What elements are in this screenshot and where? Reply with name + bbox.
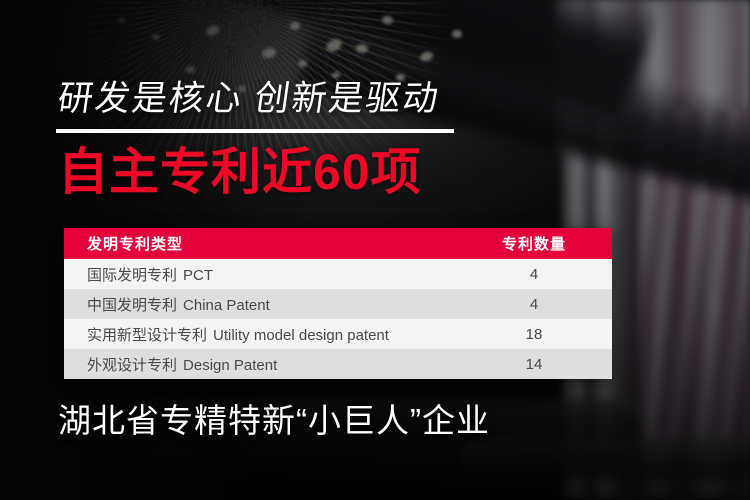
cell-patent-type: 国际发明专利PCT	[64, 264, 464, 285]
headline-primary: 研发是核心 创新是驱动	[55, 78, 443, 120]
footer-tagline: 湖北省专精特新“小巨人”企业	[58, 400, 490, 442]
patent-table: 发明专利类型 专利数量 国际发明专利PCT 4 中国发明专利China Pate…	[64, 228, 612, 379]
cell-patent-type: 实用新型设计专利Utility model design patent	[64, 324, 464, 345]
cell-patent-type-cn: 实用新型设计专利	[87, 327, 207, 344]
table-row: 中国发明专利China Patent 4	[64, 289, 612, 319]
cell-patent-type-en: China Patent	[177, 297, 270, 314]
patent-poster: 研发是核心 创新是驱动 自主专利近60项 发明专利类型 专利数量 国际发明专利P…	[0, 0, 750, 500]
cell-patent-type-cn: 国际发明专利	[87, 267, 177, 284]
table-row: 国际发明专利PCT 4	[64, 259, 612, 289]
column-header-type: 发明专利类型	[64, 233, 464, 254]
table-row: 外观设计专利Design Patent 14	[64, 349, 612, 379]
cell-patent-count: 4	[464, 296, 612, 313]
poster-content: 研发是核心 创新是驱动 自主专利近60项 发明专利类型 专利数量 国际发明专利P…	[0, 0, 750, 500]
cell-patent-type-cn: 中国发明专利	[87, 297, 177, 314]
cell-patent-type-en: PCT	[177, 267, 213, 284]
headline-divider	[56, 129, 454, 133]
cell-patent-type: 外观设计专利Design Patent	[64, 354, 464, 375]
cell-patent-count: 18	[464, 326, 612, 343]
cell-patent-type-cn: 外观设计专利	[87, 357, 177, 374]
table-row: 实用新型设计专利Utility model design patent 18	[64, 319, 612, 349]
cell-patent-count: 4	[464, 266, 612, 283]
table-header-row: 发明专利类型 专利数量	[64, 228, 612, 259]
cell-patent-type-en: Utility model design patent	[207, 327, 389, 344]
cell-patent-type-en: Design Patent	[177, 357, 277, 374]
column-header-count: 专利数量	[464, 233, 612, 254]
cell-patent-type: 中国发明专利China Patent	[64, 294, 464, 315]
cell-patent-count: 14	[464, 356, 612, 373]
headline-accent: 自主专利近60项	[58, 142, 422, 202]
